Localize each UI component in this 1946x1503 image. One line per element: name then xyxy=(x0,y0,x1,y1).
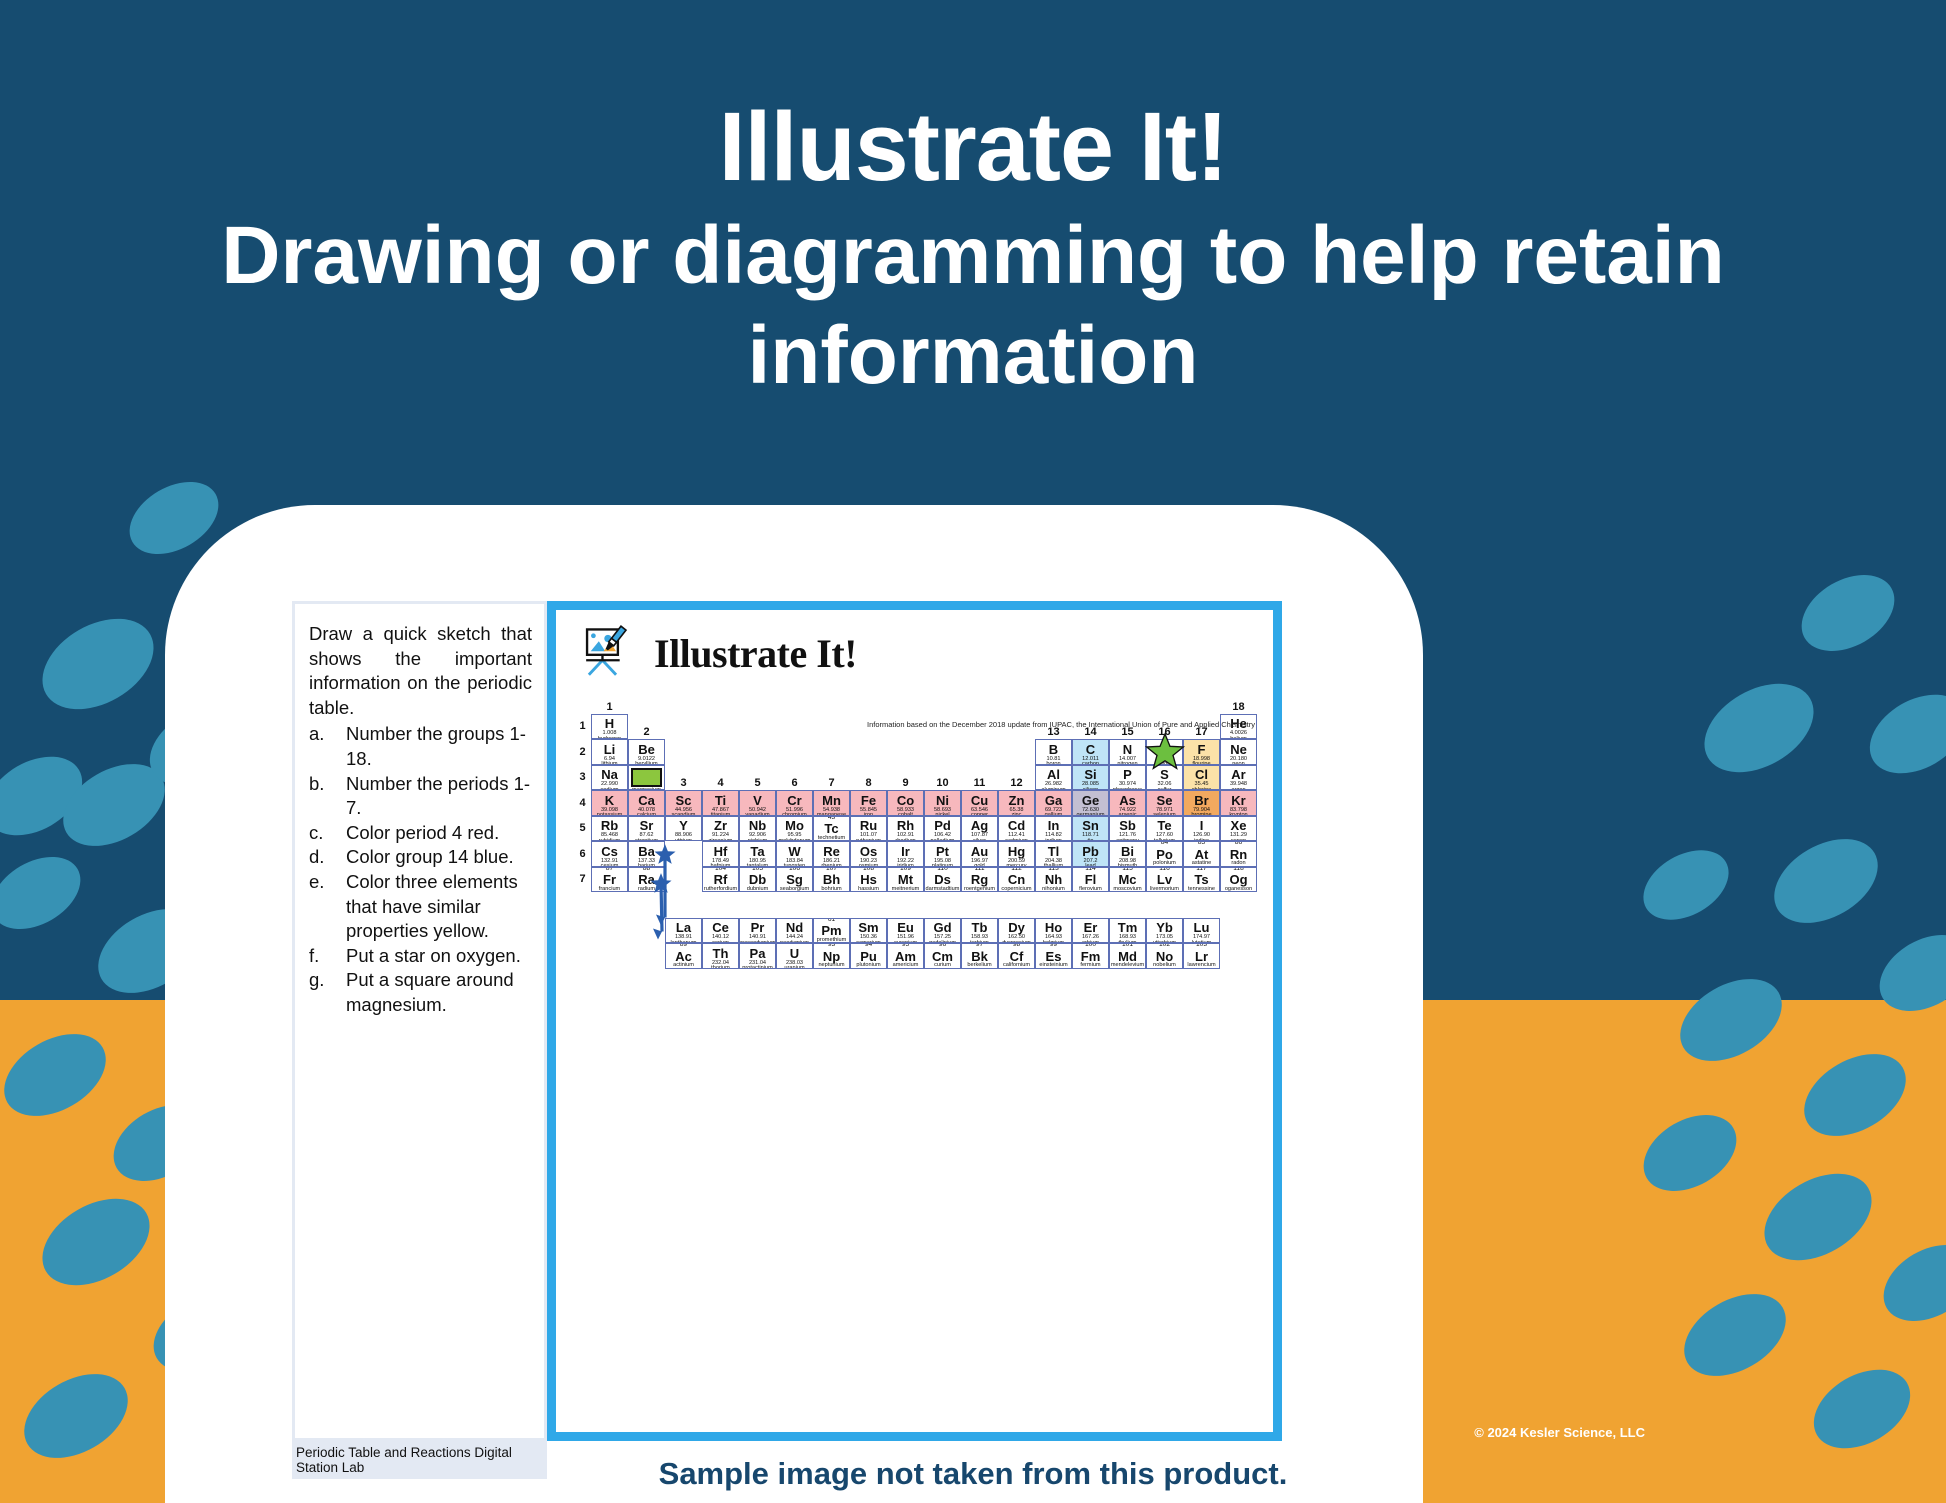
element-cell: 110Dsdarmstadtium xyxy=(924,867,961,893)
oxygen-star-annotation xyxy=(1144,732,1186,772)
actinide-cell: 93Npneptunium xyxy=(813,943,850,969)
instruction-step-list: a.Number the groups 1-18.b.Number the pe… xyxy=(309,722,532,1017)
lanthanide-cell: 65Tb158.93terbium xyxy=(961,918,998,944)
lanthanide-cell: 67Ho164.93holmium xyxy=(1035,918,1072,944)
period-label-5: 5 xyxy=(574,816,591,842)
element-symbol: Ru xyxy=(860,819,877,832)
period-label-1: 1 xyxy=(574,714,591,740)
element-cell: 15P30.974phosphorus xyxy=(1109,765,1146,791)
element-symbol: Nd xyxy=(786,921,803,934)
element-symbol: Pm xyxy=(821,924,841,937)
element-symbol: B xyxy=(1049,743,1058,756)
periodic-table-panel: Illustrate It! 1234567891011121314151617… xyxy=(547,601,1282,1441)
element-symbol: At xyxy=(1195,848,1209,861)
element-name: hassium xyxy=(858,887,879,892)
element-symbol: Cd xyxy=(1008,819,1025,832)
element-symbol: Br xyxy=(1194,794,1208,807)
element-cell: 80Hg200.59mercury xyxy=(998,841,1035,867)
step-text: Color group 14 blue. xyxy=(346,845,532,870)
element-symbol: Ga xyxy=(1045,794,1062,807)
actinide-cell: 96Cmcurium xyxy=(924,943,961,969)
element-name: yttrium xyxy=(675,839,692,841)
element-name: francium xyxy=(599,887,620,892)
element-cell: 49In114.82indium xyxy=(1035,816,1072,842)
blue-star-marker-1 xyxy=(653,843,677,866)
element-symbol: N xyxy=(1123,743,1132,756)
element-cell: 74W183.84tungsten xyxy=(776,841,813,867)
actinide-cell: 100Fmfermium xyxy=(1072,943,1109,969)
step-marker: f. xyxy=(309,944,346,969)
group-label-10: 10 xyxy=(924,765,961,791)
periodic-table-source-caption: Information based on the December 2018 u… xyxy=(867,720,1255,729)
element-cell: 106Sgseaborgium xyxy=(776,867,813,893)
group-label-18: 18 xyxy=(1220,688,1257,714)
element-cell: 23V50.942vanadium xyxy=(739,790,776,816)
element-cell: 118Ogoganesson xyxy=(1220,867,1257,893)
element-cell: 26Fe55.845iron xyxy=(850,790,887,816)
step-text: Number the groups 1-18. xyxy=(346,722,532,771)
element-symbol: Hg xyxy=(1008,845,1025,858)
element-symbol: Pd xyxy=(934,819,951,832)
element-symbol: Mc xyxy=(1118,873,1136,886)
step-text: Put a square around magnesium. xyxy=(346,968,532,1017)
step-marker: d. xyxy=(309,845,346,870)
element-cell: 53I126.90iodine xyxy=(1183,816,1220,842)
element-symbol: Zn xyxy=(1009,794,1025,807)
element-name: livermorium xyxy=(1150,887,1179,892)
magnesium-square-annotation xyxy=(631,768,662,788)
element-cell: 81Tl204.38thallium xyxy=(1035,841,1072,867)
copyright-label: © 2024 Kesler Science, LLC xyxy=(1474,1425,1645,1440)
lanthanide-cell: 60Nd144.24neodymium xyxy=(776,918,813,944)
element-cell: 10Ne20.180neon xyxy=(1220,739,1257,765)
element-symbol: U xyxy=(790,947,799,960)
element-symbol: Lr xyxy=(1195,950,1208,963)
instruction-step: f.Put a star on oxygen. xyxy=(309,944,532,969)
instructions-panel: Draw a quick sketch that shows the impor… xyxy=(292,601,547,1441)
element-cell: 3Li6.94lithium xyxy=(591,739,628,765)
element-name: flerovium xyxy=(1079,887,1102,892)
element-cell: 25Mn54.938manganese xyxy=(813,790,850,816)
element-cell: 35Br79.904bromine xyxy=(1183,790,1220,816)
element-cell: 76Os190.23osmium xyxy=(850,841,887,867)
lanthanide-cell: 57La138.91lanthanum xyxy=(665,918,702,944)
element-name: tennessine xyxy=(1188,887,1215,892)
element-symbol: W xyxy=(788,845,800,858)
element-cell: 5B10.81boron xyxy=(1035,739,1072,765)
step-marker: a. xyxy=(309,722,346,771)
group-label-7: 7 xyxy=(813,765,850,791)
element-symbol: Pu xyxy=(860,950,877,963)
element-symbol: Xe xyxy=(1231,819,1247,832)
element-symbol: Si xyxy=(1084,768,1096,781)
element-cell: 78Pt195.08platinum xyxy=(924,841,961,867)
instruction-step: d.Color group 14 blue. xyxy=(309,845,532,870)
lanthanide-cell: 71Lu174.97lutetium xyxy=(1183,918,1220,944)
element-cell: 52Te127.60tellurium xyxy=(1146,816,1183,842)
element-symbol: Fe xyxy=(861,794,876,807)
element-cell: 87Frfrancium xyxy=(591,867,628,893)
instruction-step: g.Put a square around magnesium. xyxy=(309,968,532,1017)
lanthanide-cell: 63Eu151.96europium xyxy=(887,918,924,944)
element-cell: 41Nb92.906niobium xyxy=(739,816,776,842)
element-cell: 36Kr83.798krypton xyxy=(1220,790,1257,816)
element-name: copernicium xyxy=(1001,887,1031,892)
element-name: curium xyxy=(934,963,951,968)
period-label-4: 4 xyxy=(574,790,591,816)
group-label-12: 12 xyxy=(998,765,1035,791)
element-name: rutherfordium xyxy=(704,887,737,892)
element-cell: 48Cd112.41cadmium xyxy=(998,816,1035,842)
element-symbol: Hs xyxy=(860,873,877,886)
actinide-cell: 94Puplutonium xyxy=(850,943,887,969)
periodic-table-grid: 12345678910111213141516171812345671H1.00… xyxy=(574,688,1257,969)
element-symbol: Dy xyxy=(1008,921,1025,934)
lanthanide-cell: 59Pr140.91praseodymium xyxy=(739,918,776,944)
element-cell: 109Mtmeitnerium xyxy=(887,867,924,893)
actinide-cell: 92U238.03uranium xyxy=(776,943,813,969)
element-cell: 22Ti47.867titanium xyxy=(702,790,739,816)
panel-header: Illustrate It! xyxy=(556,610,1273,688)
element-symbol: Al xyxy=(1047,768,1060,781)
element-cell: 20Ca40.078calcium xyxy=(628,790,665,816)
element-name: lawrencium xyxy=(1187,963,1215,968)
element-symbol: V xyxy=(753,794,762,807)
element-symbol: Sr xyxy=(640,819,654,832)
element-cell: 111Rgroentgenium xyxy=(961,867,998,893)
element-symbol: Co xyxy=(897,794,914,807)
element-symbol: Cl xyxy=(1195,768,1208,781)
actinide-cell: 102Nonobelium xyxy=(1146,943,1183,969)
element-cell: 83Bi208.98bismuth xyxy=(1109,841,1146,867)
element-cell: 21Sc44.956scandium xyxy=(665,790,702,816)
element-name: moscovium xyxy=(1113,887,1141,892)
group-label-8: 8 xyxy=(850,765,887,791)
element-symbol: Er xyxy=(1084,921,1098,934)
element-symbol: Tc xyxy=(824,822,838,835)
element-symbol: Rb xyxy=(601,819,618,832)
element-symbol: Ac xyxy=(675,950,692,963)
element-cell: 1H1.008hydrogen xyxy=(591,714,628,740)
element-cell: 79Au196.97gold xyxy=(961,841,998,867)
element-symbol: Db xyxy=(749,873,766,886)
element-symbol: Kr xyxy=(1231,794,1245,807)
periodic-table-wrap: 12345678910111213141516171812345671H1.00… xyxy=(556,688,1273,969)
lanthanide-cell: 58Ce140.12cerium xyxy=(702,918,739,944)
element-name: actinium xyxy=(673,963,694,968)
actinide-cell: 99Eseinsteinium xyxy=(1035,943,1072,969)
element-symbol: Og xyxy=(1229,873,1247,886)
element-cell: 29Cu63.546copper xyxy=(961,790,998,816)
element-name: dubnium xyxy=(747,887,768,892)
element-symbol: Te xyxy=(1157,819,1171,832)
element-symbol: Rg xyxy=(971,873,988,886)
element-symbol: Fl xyxy=(1085,873,1097,886)
element-cell: 37Rb85.468rubidium xyxy=(591,816,628,842)
sample-image-note: Sample image not taken from this product… xyxy=(0,1456,1946,1492)
element-symbol: Fm xyxy=(1081,950,1101,963)
element-symbol: Po xyxy=(1156,848,1173,861)
element-symbol: Bh xyxy=(823,873,840,886)
element-symbol: Np xyxy=(823,950,840,963)
element-symbol: Cr xyxy=(787,794,801,807)
element-name: bohrium xyxy=(821,887,841,892)
step-text: Put a star on oxygen. xyxy=(346,944,532,969)
element-symbol: Pb xyxy=(1082,845,1099,858)
element-symbol: As xyxy=(1119,794,1136,807)
element-symbol: Sm xyxy=(858,921,878,934)
element-symbol: Ti xyxy=(715,794,726,807)
element-cell: 9F18.998flourine xyxy=(1183,739,1220,765)
element-symbol: Cs xyxy=(601,845,618,858)
worksheet-preview: Draw a quick sketch that shows the impor… xyxy=(292,601,1282,1441)
element-symbol: Nb xyxy=(749,819,766,832)
step-marker: e. xyxy=(309,870,346,944)
element-cell: 17Cl35.45chlorine xyxy=(1183,765,1220,791)
element-cell: 4Be9.0122beryllium xyxy=(628,739,665,765)
element-symbol: Ir xyxy=(901,845,910,858)
element-symbol: Tm xyxy=(1118,921,1138,934)
element-symbol: Rh xyxy=(897,819,914,832)
element-cell: 85Atastatine xyxy=(1183,841,1220,867)
element-symbol: Ce xyxy=(712,921,729,934)
actinide-cell: 98Cfcalifornium xyxy=(998,943,1035,969)
panel-title: Illustrate It! xyxy=(654,630,857,677)
lanthanide-cell: 69Tm168.93thulium xyxy=(1109,918,1146,944)
element-cell: 43Tctechnetium xyxy=(813,816,850,842)
element-cell: 104Rfrutherfordium xyxy=(702,867,739,893)
element-symbol: Ge xyxy=(1082,794,1099,807)
element-name: thorium xyxy=(711,966,730,968)
group-label-5: 5 xyxy=(739,765,776,791)
element-cell: 75Re186.21rhenium xyxy=(813,841,850,867)
element-name: nihonium xyxy=(1042,887,1065,892)
element-cell: 72Hf178.49hafnium xyxy=(702,841,739,867)
actinide-cell: 95Amamericium xyxy=(887,943,924,969)
lanthanide-cell: 62Sm150.36samarium xyxy=(850,918,887,944)
element-name: darmstadtium xyxy=(926,887,960,892)
element-symbol: Mo xyxy=(785,819,804,832)
group-label-4: 4 xyxy=(702,765,739,791)
element-symbol: Mn xyxy=(822,794,841,807)
element-name: berkelium xyxy=(967,963,991,968)
element-symbol: Mt xyxy=(898,873,913,886)
element-cell: 7N14.007nitrogen xyxy=(1109,739,1146,765)
element-cell: 28Ni58.693nickel xyxy=(924,790,961,816)
element-symbol: Sb xyxy=(1119,819,1136,832)
actinide-cell: 103Lrlawrencium xyxy=(1183,943,1220,969)
element-symbol: Pa xyxy=(750,947,766,960)
element-cell: 32Ge72.630germanium xyxy=(1072,790,1109,816)
element-symbol: Cm xyxy=(932,950,953,963)
element-cell: 107Bhbohrium xyxy=(813,867,850,893)
element-symbol: P xyxy=(1123,768,1132,781)
element-symbol: F xyxy=(1198,743,1206,756)
actinide-cell: 90Th232.04thorium xyxy=(702,943,739,969)
element-name: fermium xyxy=(1080,963,1100,968)
instructions-inner: Draw a quick sketch that shows the impor… xyxy=(295,604,544,1438)
actinide-cell: 89Acactinium xyxy=(665,943,702,969)
element-cell: 105Dbdubnium xyxy=(739,867,776,893)
group-label-3: 3 xyxy=(665,765,702,791)
element-cell: 33As74.922arsenic xyxy=(1109,790,1146,816)
element-name: mendelevium xyxy=(1111,963,1144,968)
element-symbol: Yb xyxy=(1156,921,1173,934)
instructions-intro: Draw a quick sketch that shows the impor… xyxy=(309,622,532,720)
element-symbol: Ca xyxy=(638,794,655,807)
period-label-3: 3 xyxy=(574,765,591,791)
element-symbol: No xyxy=(1156,950,1173,963)
element-cell: 55Cs132.91cesium xyxy=(591,841,628,867)
element-cell: 112Cncopernicium xyxy=(998,867,1035,893)
step-marker: g. xyxy=(309,968,346,1017)
element-symbol: Sn xyxy=(1082,819,1099,832)
instruction-step: b.Number the periods 1-7. xyxy=(309,772,532,821)
element-symbol: Ni xyxy=(936,794,949,807)
element-symbol: Pr xyxy=(751,921,765,934)
element-symbol: Eu xyxy=(897,921,914,934)
element-name: einsteinium xyxy=(1039,963,1067,968)
group-label-2: 2 xyxy=(628,714,665,740)
element-symbol: K xyxy=(605,794,614,807)
element-symbol: Lv xyxy=(1157,873,1172,886)
element-symbol: Bk xyxy=(971,950,988,963)
element-name: plutonium xyxy=(856,963,880,968)
element-symbol: Cf xyxy=(1010,950,1024,963)
element-cell: 47Ag107.87silver xyxy=(961,816,998,842)
element-symbol: Lu xyxy=(1194,921,1210,934)
element-symbol: I xyxy=(1200,819,1204,832)
element-symbol: Os xyxy=(860,845,877,858)
element-cell: 84Popolonium xyxy=(1146,841,1183,867)
element-name: oganesson xyxy=(1225,887,1252,892)
element-symbol: Na xyxy=(601,768,618,781)
element-symbol: C xyxy=(1086,743,1095,756)
element-symbol: Ag xyxy=(971,819,988,832)
element-symbol: Rn xyxy=(1230,848,1247,861)
element-cell: 40Zr91.224zirconium xyxy=(702,816,739,842)
element-symbol: Re xyxy=(823,845,840,858)
element-symbol: Sc xyxy=(676,794,692,807)
element-name: protactinium xyxy=(742,966,772,968)
element-symbol: Bi xyxy=(1121,845,1134,858)
lanthanide-cell: 64Gd157.25gadolinium xyxy=(924,918,961,944)
element-cell: 46Pd106.42palladium xyxy=(924,816,961,842)
element-cell: 11Na22.990sodium xyxy=(591,765,628,791)
element-cell: 38Sr87.62strontium xyxy=(628,816,665,842)
element-cell: 34Se78.971selenium xyxy=(1146,790,1183,816)
easel-paintbrush-icon xyxy=(578,624,636,682)
lanthanide-cell: 66Dy162.50dysprosium xyxy=(998,918,1035,944)
instruction-step: c.Color period 4 red. xyxy=(309,821,532,846)
step-marker: c. xyxy=(309,821,346,846)
element-symbol: Th xyxy=(713,947,729,960)
element-symbol: Ts xyxy=(1194,873,1208,886)
element-cell: 27Co58.933cobalt xyxy=(887,790,924,816)
element-symbol: Md xyxy=(1118,950,1137,963)
element-symbol: Y xyxy=(679,819,688,832)
element-symbol: Ds xyxy=(934,873,951,886)
element-symbol: Ta xyxy=(750,845,764,858)
element-cell: 86Rnradon xyxy=(1220,841,1257,867)
element-symbol: Cn xyxy=(1008,873,1025,886)
element-cell: 108Hshassium xyxy=(850,867,887,893)
actinide-cell: 91Pa231.04protactinium xyxy=(739,943,776,969)
element-cell: 51Sb121.76antimony xyxy=(1109,816,1146,842)
element-symbol: In xyxy=(1048,819,1060,832)
element-name: neptunium xyxy=(818,963,844,968)
element-symbol: Hf xyxy=(714,845,728,858)
step-text: Color period 4 red. xyxy=(346,821,532,846)
page-title: Illustrate It! xyxy=(0,95,1946,200)
blue-star-marker-2 xyxy=(649,872,673,895)
element-symbol: Zr xyxy=(714,819,727,832)
element-cell: 77Ir192.22iridium xyxy=(887,841,924,867)
actinide-cell: 97Bkberkelium xyxy=(961,943,998,969)
element-cell: 73Ta180.95tantalum xyxy=(739,841,776,867)
element-cell: 24Cr51.996chromium xyxy=(776,790,813,816)
element-cell: 31Ga69.723gallium xyxy=(1035,790,1072,816)
element-symbol: Tb xyxy=(972,921,988,934)
element-symbol: Be xyxy=(638,743,655,756)
element-symbol: La xyxy=(676,921,691,934)
element-cell: 54Xe131.29xenon xyxy=(1220,816,1257,842)
element-symbol: H xyxy=(605,717,614,730)
element-symbol: Li xyxy=(604,743,616,756)
step-text: Number the periods 1-7. xyxy=(346,772,532,821)
element-symbol: Am xyxy=(895,950,916,963)
group-label-9: 9 xyxy=(887,765,924,791)
element-cell: 30Zn65.38zinc xyxy=(998,790,1035,816)
actinide-cell: 101Mdmendelevium xyxy=(1109,943,1146,969)
page-subtitle: Drawing or diagramming to help retain in… xyxy=(0,206,1946,406)
element-cell: 14Si28.085silicon xyxy=(1072,765,1109,791)
period-label-6: 6 xyxy=(574,841,591,867)
element-symbol: Pt xyxy=(936,845,949,858)
period-label-2: 2 xyxy=(574,739,591,765)
element-symbol: Se xyxy=(1157,794,1173,807)
element-cell: 116Lvlivermorium xyxy=(1146,867,1183,893)
element-symbol: Nh xyxy=(1045,873,1062,886)
element-cell: 113Nhnihonium xyxy=(1035,867,1072,893)
element-symbol: Au xyxy=(971,845,988,858)
element-cell: 42Mo95.95molybdenum xyxy=(776,816,813,842)
element-cell: 117Tstennessine xyxy=(1183,867,1220,893)
element-cell: 115Mcmoscovium xyxy=(1109,867,1146,893)
element-symbol: Sg xyxy=(786,873,803,886)
element-symbol: Rf xyxy=(714,873,728,886)
group-label-6: 6 xyxy=(776,765,813,791)
element-symbol: Ne xyxy=(1230,743,1247,756)
step-text: Color three elements that have similar p… xyxy=(346,870,532,944)
element-cell: 18Ar39.948argon xyxy=(1220,765,1257,791)
lanthanide-cell: 68Er167.26erbium xyxy=(1072,918,1109,944)
element-name: seaborgium xyxy=(780,887,809,892)
element-symbol: Ho xyxy=(1045,921,1062,934)
instruction-step: e.Color three elements that have similar… xyxy=(309,870,532,944)
lanthanide-cell: 70Yb173.05ytterbium xyxy=(1146,918,1183,944)
element-cell: 13Al26.982aluminum xyxy=(1035,765,1072,791)
group-label-1: 1 xyxy=(591,688,628,714)
element-cell: 6C12.011carbon xyxy=(1072,739,1109,765)
element-symbol: Es xyxy=(1046,950,1062,963)
element-name: americium xyxy=(893,963,919,968)
element-symbol: Fr xyxy=(603,873,616,886)
period-label-7: 7 xyxy=(574,867,591,893)
lanthanide-cell: 61Pmpromethium xyxy=(813,918,850,944)
element-cell: 19K39.098potassium xyxy=(591,790,628,816)
element-cell: 44Ru101.07ruthenium xyxy=(850,816,887,842)
